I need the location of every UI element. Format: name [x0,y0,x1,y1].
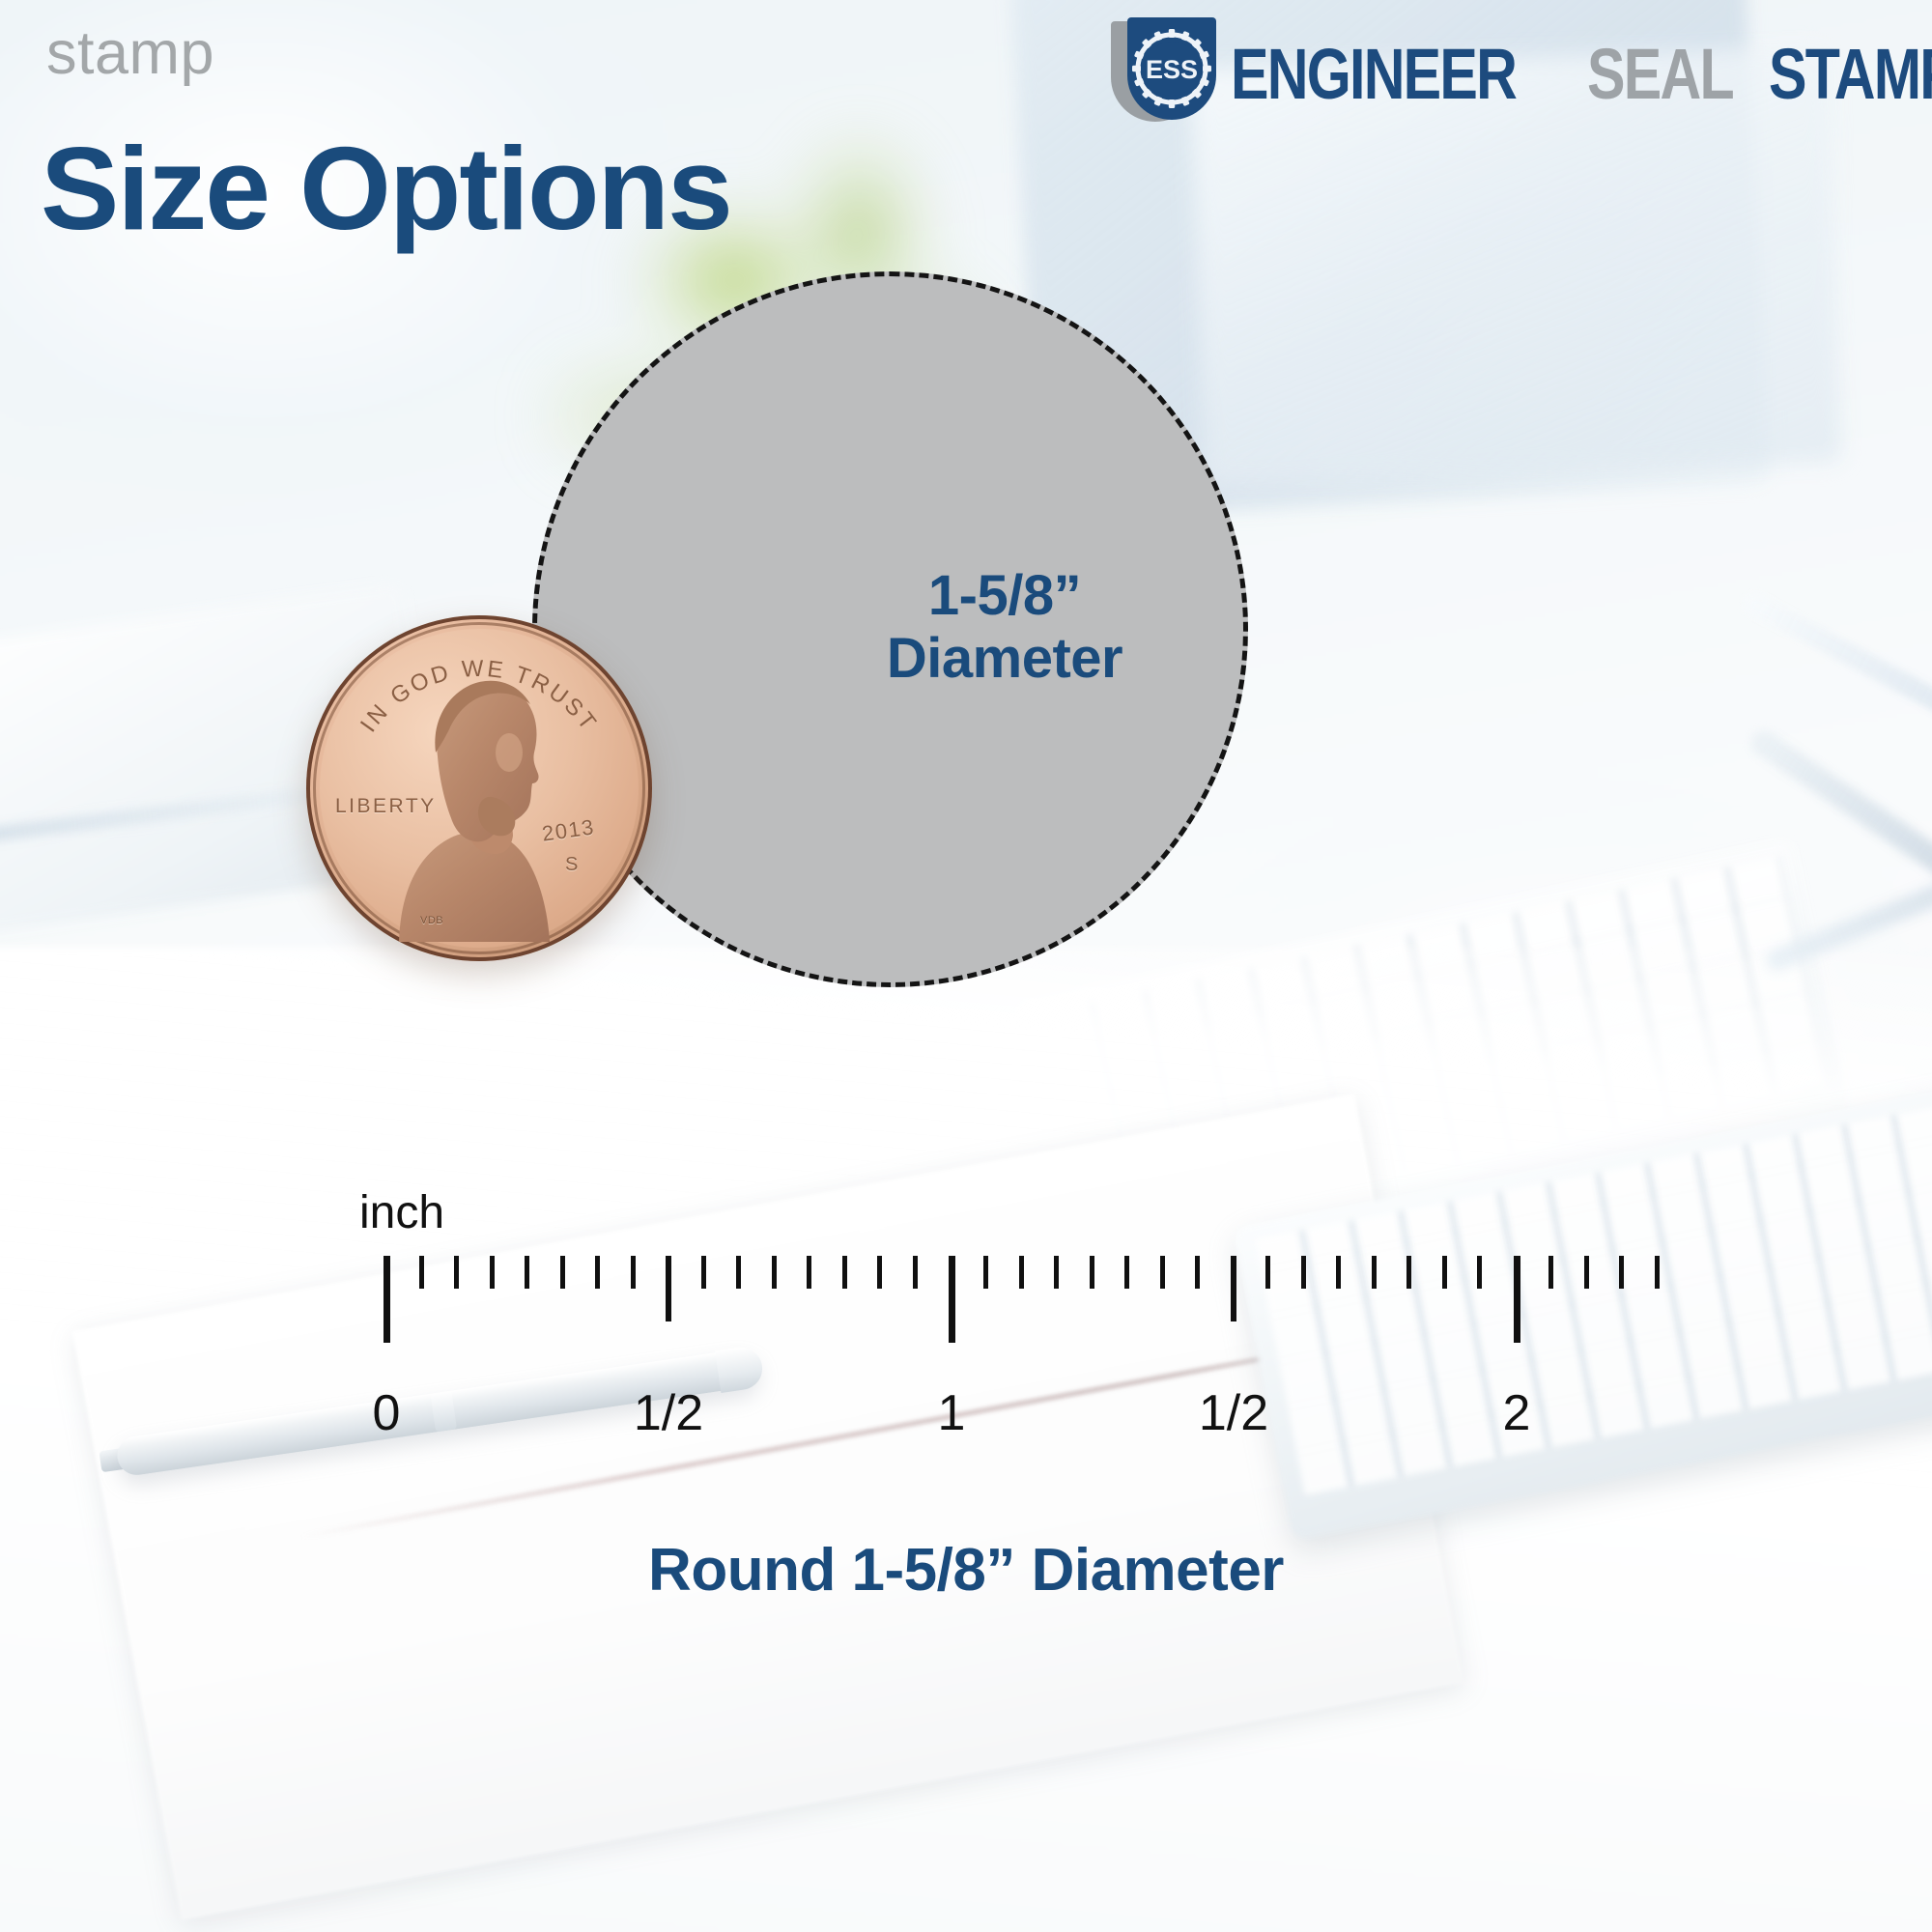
logo-word-seal: SEAL [1587,42,1733,107]
ruler-tick-small [1619,1256,1624,1289]
penny-mint-mark: S [565,854,580,876]
stamp-size-line2: Diameter [734,628,1275,691]
ruler-tick-small [525,1256,529,1289]
ruler-label: 1/2 [1199,1384,1268,1442]
ruler-tick-small [595,1256,600,1289]
ruler-tick-small [1372,1256,1377,1289]
ruler-tick-small [736,1256,741,1289]
ruler-tick-small [1442,1256,1447,1289]
ruler-tick-small [1195,1256,1200,1289]
ruler-tick-small [490,1256,495,1289]
ruler-tick-small [1548,1256,1553,1289]
ruler-label: 2 [1503,1384,1531,1442]
ruler-ticks [0,1256,1932,1372]
size-options-graphic: stamp Size Options [0,0,1932,1932]
ruler-tick-small [1054,1256,1059,1289]
ruler-tick-small [1160,1256,1165,1289]
gear-icon: ESS [1132,25,1211,112]
penny-coin: IN GOD WE TRUST [306,615,652,961]
ruler-tick-small [560,1256,565,1289]
ruler-tick-small [772,1256,777,1289]
ruler-tick-major [1514,1256,1520,1343]
stamp-size-label: 1-5/8” Diameter [734,565,1275,691]
ruler-tick-major [384,1256,390,1343]
logo-word-engineer: ENGINEER [1231,42,1516,107]
ruler-label: 1 [938,1384,966,1442]
ruler-tick-small [419,1256,424,1289]
ruler-tick-small [454,1256,459,1289]
brand-wordmark: ENGINEER SEAL STAMPS .COM [1231,35,1932,107]
ruler-tick-small [1124,1256,1129,1289]
ruler-tick-small [877,1256,882,1289]
penny-liberty-text: LIBERTY [335,795,437,818]
ruler-tick-small [631,1256,636,1289]
logo-word-stamps: STAMPS [1769,42,1932,107]
ruler-tick-small [842,1256,847,1289]
ruler-label: 1/2 [634,1384,703,1442]
shield-gear-icon: ESS [1111,17,1225,126]
ruler-tick-small [1265,1256,1270,1289]
page-title: Size Options [41,129,731,247]
brand-logo[interactable]: ESS ENGINEER SEAL STAMPS .COM [1111,17,1927,126]
ruler-tick-medium [1231,1256,1236,1321]
ruler-tick-small [1406,1256,1411,1289]
ruler-tick-small [1301,1256,1306,1289]
ruler-tick-small [1655,1256,1660,1289]
ruler-tick-small [1019,1256,1024,1289]
ruler-tick-small [1336,1256,1341,1289]
ruler-tick-medium [666,1256,671,1321]
logo-monogram: ESS [1146,55,1198,84]
ruler-tick-major [949,1256,955,1343]
kicker-label: stamp [46,23,214,84]
ruler-tick-small [1090,1256,1094,1289]
ruler-tick-small [1477,1256,1482,1289]
ruler-tick-small [807,1256,811,1289]
size-caption: Round 1-5/8” Diameter [0,1536,1932,1605]
ruler-label: 0 [373,1384,401,1442]
ruler-tick-small [701,1256,706,1289]
stamp-size-line1: 1-5/8” [928,564,1081,627]
ruler-tick-small [1584,1256,1589,1289]
penny-designer-initials: VDB [420,915,443,926]
ruler-tick-small [983,1256,988,1289]
ruler-tick-small [913,1256,918,1289]
ruler-unit-label: inch [359,1186,444,1239]
